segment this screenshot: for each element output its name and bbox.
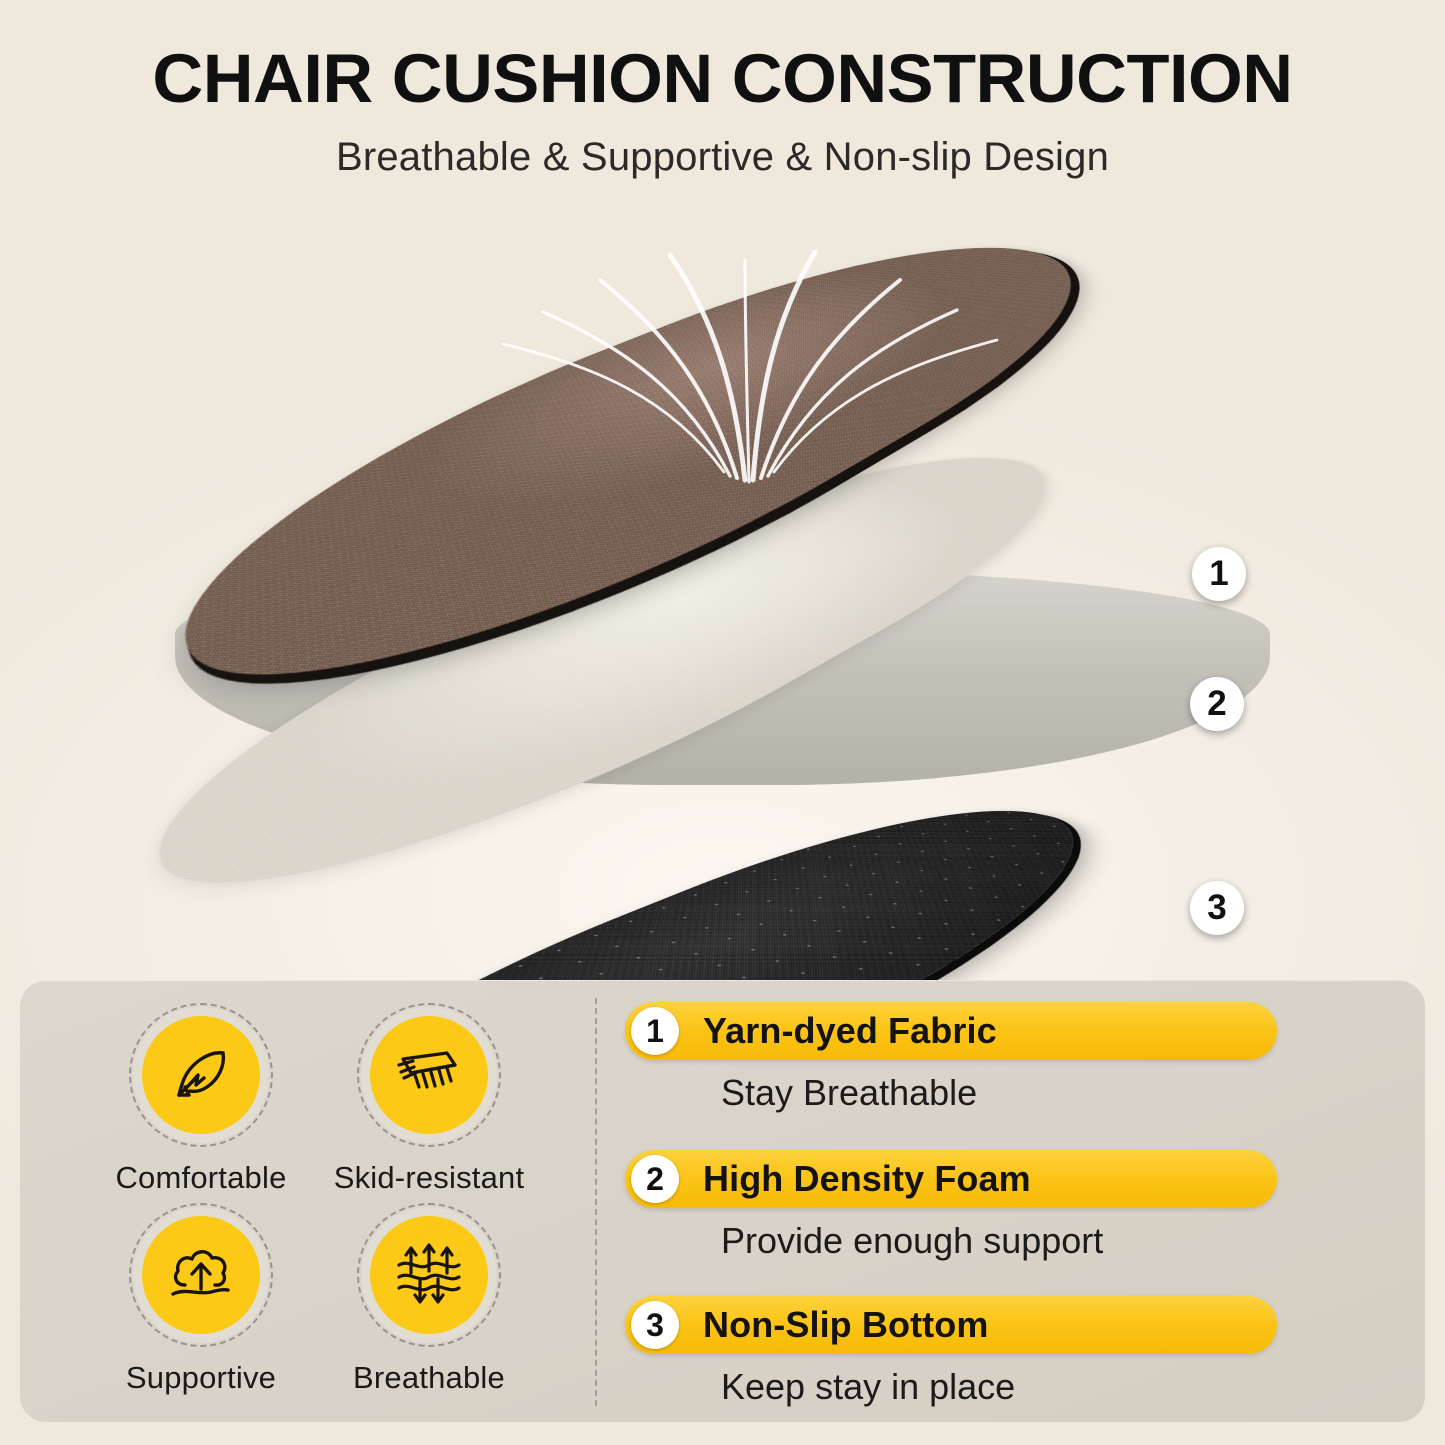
callout-badge-1: 1 — [1192, 547, 1246, 601]
benefit-label: Skid-resistant — [304, 1160, 554, 1196]
callout-badge-2: 2 — [1190, 677, 1244, 731]
benefit-item-breathable[interactable]: Breathable — [304, 1216, 554, 1396]
infographic-page: CHAIR CUSHION CONSTRUCTION Breathable & … — [0, 0, 1445, 1445]
feature-item-2[interactable]: 2 High Density Foam Provide enough suppo… — [625, 1150, 1385, 1262]
feature-pill: 3 Non-Slip Bottom — [625, 1296, 1277, 1354]
feather-icon — [142, 1016, 260, 1134]
feature-title: High Density Foam — [703, 1158, 1031, 1200]
feature-description: Provide enough support — [721, 1220, 1385, 1262]
benefit-label: Breathable — [304, 1360, 554, 1396]
feature-description: Stay Breathable — [721, 1072, 1385, 1114]
info-panel: Comfortable — [20, 980, 1425, 1422]
feature-number-badge: 1 — [631, 1007, 679, 1055]
feature-number-badge: 3 — [631, 1301, 679, 1349]
feature-pill: 1 Yarn-dyed Fabric — [625, 1002, 1277, 1060]
panel-divider — [595, 998, 597, 1406]
feature-pill: 2 High Density Foam — [625, 1150, 1277, 1208]
benefit-label: Comfortable — [76, 1160, 326, 1196]
fabric-top-layer — [200, 220, 1285, 560]
benefit-label: Supportive — [76, 1360, 326, 1396]
feature-item-3[interactable]: 3 Non-Slip Bottom Keep stay in place — [625, 1296, 1385, 1408]
benefit-item-supportive[interactable]: Supportive — [76, 1216, 326, 1396]
cloud-up-arrow-icon — [142, 1216, 260, 1334]
product-exploded-view: 1 2 3 — [0, 195, 1445, 970]
feature-description: Keep stay in place — [721, 1366, 1385, 1408]
features-list: 1 Yarn-dyed Fabric Stay Breathable 2 Hig… — [625, 1002, 1385, 1338]
benefit-item-skid-resistant[interactable]: Skid-resistant — [304, 1016, 554, 1196]
feature-item-1[interactable]: 1 Yarn-dyed Fabric Stay Breathable — [625, 1002, 1385, 1114]
feature-number-badge: 2 — [631, 1155, 679, 1203]
feature-title: Non-Slip Bottom — [703, 1304, 988, 1346]
page-subtitle: Breathable & Supportive & Non-slip Desig… — [0, 135, 1445, 180]
grip-comb-icon — [370, 1016, 488, 1134]
airflow-waves-icon — [370, 1216, 488, 1334]
feature-title: Yarn-dyed Fabric — [703, 1010, 997, 1052]
callout-badge-3: 3 — [1190, 881, 1244, 935]
benefits-grid: Comfortable — [68, 1008, 578, 1403]
benefit-item-comfortable[interactable]: Comfortable — [76, 1016, 326, 1196]
header: CHAIR CUSHION CONSTRUCTION Breathable & … — [0, 44, 1445, 180]
page-title: CHAIR CUSHION CONSTRUCTION — [0, 44, 1445, 113]
